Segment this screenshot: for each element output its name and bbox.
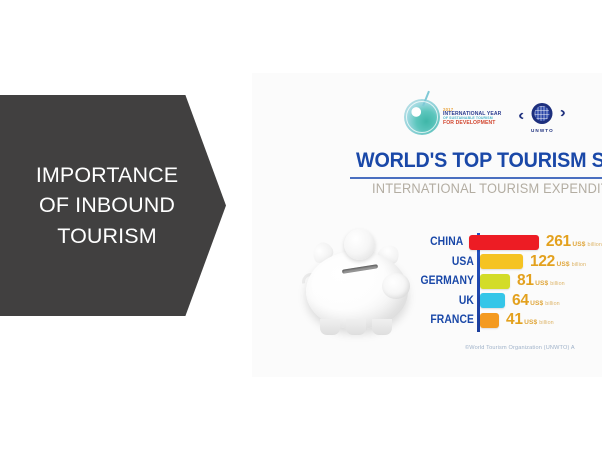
page-title: IMPORTANCE OF INBOUND TOURISM — [4, 160, 210, 252]
infographic-subtitle: INTERNATIONAL TOURISM EXPENDITURE — [372, 181, 602, 196]
title-divider — [350, 177, 602, 179]
coin-icon — [344, 229, 375, 260]
chart-category-label: GERMANY — [418, 275, 474, 287]
piggy-leg — [346, 319, 366, 335]
chart-value-number: 122 — [530, 253, 555, 271]
chart-value-unit: US$ — [535, 280, 548, 287]
chart-bar — [469, 235, 539, 250]
chart-value-unit-scale: billion — [539, 320, 554, 326]
chart-row: USA122US$billion — [412, 253, 602, 271]
chart-value-unit-scale: billion — [550, 281, 565, 287]
chart-row: FRANCE41US$billion — [412, 311, 602, 329]
chart-category-label: UK — [418, 295, 474, 307]
logo-line-3: FOR DEVELOPMENT — [443, 121, 501, 126]
chart-bar — [480, 274, 510, 289]
unwto-logo: UNWTO — [519, 102, 565, 133]
chart-value-unit: US$ — [524, 319, 537, 326]
chart-value-label: 41US$billion — [506, 311, 554, 329]
piggy-bank-illustration — [300, 221, 416, 339]
chart-value-label: 261US$billion — [546, 233, 602, 251]
chart-bar — [480, 254, 523, 269]
section-title-banner: IMPORTANCE OF INBOUND TOURISM — [0, 95, 226, 316]
chart-value-number: 261 — [546, 233, 571, 251]
infographic-title: WORLD'S TOP TOURISM SPENDE — [356, 149, 602, 173]
piggy-leg — [372, 319, 392, 335]
slide-canvas: IMPORTANCE OF INBOUND TOURISM 2017 INTER… — [0, 0, 602, 452]
chart-value-number: 64 — [512, 292, 529, 310]
chart-value-unit-scale: billion — [572, 262, 587, 268]
tourism-spenders-bar-chart: CHINA261US$billionUSA122US$billionGERMAN… — [412, 233, 602, 333]
chart-category-label: FRANCE — [418, 314, 474, 326]
chart-row: GERMANY81US$billion — [412, 272, 602, 290]
chart-value-label: 122US$billion — [530, 253, 586, 271]
chart-bar — [480, 313, 499, 328]
chart-row: UK64US$billion — [412, 292, 602, 310]
chart-value-unit: US$ — [556, 261, 569, 268]
chart-row: CHINA261US$billion — [412, 233, 602, 251]
chart-category-label: CHINA — [417, 236, 463, 248]
unwto-globe-icon — [519, 102, 565, 127]
chart-category-label: USA — [418, 256, 474, 268]
chart-value-label: 64US$billion — [512, 292, 560, 310]
chart-bar — [480, 293, 505, 308]
globe-icon — [404, 99, 440, 135]
chart-value-number: 41 — [506, 311, 523, 329]
chart-value-number: 81 — [517, 272, 534, 290]
infographic-credit: ©World Tourism Organization (UNWTO) A — [465, 345, 575, 351]
international-year-logo-text: 2017 INTERNATIONAL YEAR OF SUSTAINABLE T… — [443, 108, 501, 126]
piggy-leg — [320, 319, 340, 335]
chart-value-unit-scale: billion — [588, 242, 602, 248]
chart-value-unit-scale: billion — [545, 301, 560, 307]
piggy-snout — [382, 273, 410, 299]
chart-value-unit: US$ — [530, 300, 543, 307]
chart-value-unit: US$ — [572, 241, 585, 248]
unwto-logo-label: UNWTO — [531, 128, 554, 133]
international-year-2017-logo: 2017 INTERNATIONAL YEAR OF SUSTAINABLE T… — [404, 99, 501, 135]
infographic-panel: 2017 INTERNATIONAL YEAR OF SUSTAINABLE T… — [252, 73, 602, 377]
chart-value-label: 81US$billion — [517, 272, 565, 290]
logo-row: 2017 INTERNATIONAL YEAR OF SUSTAINABLE T… — [404, 95, 565, 139]
